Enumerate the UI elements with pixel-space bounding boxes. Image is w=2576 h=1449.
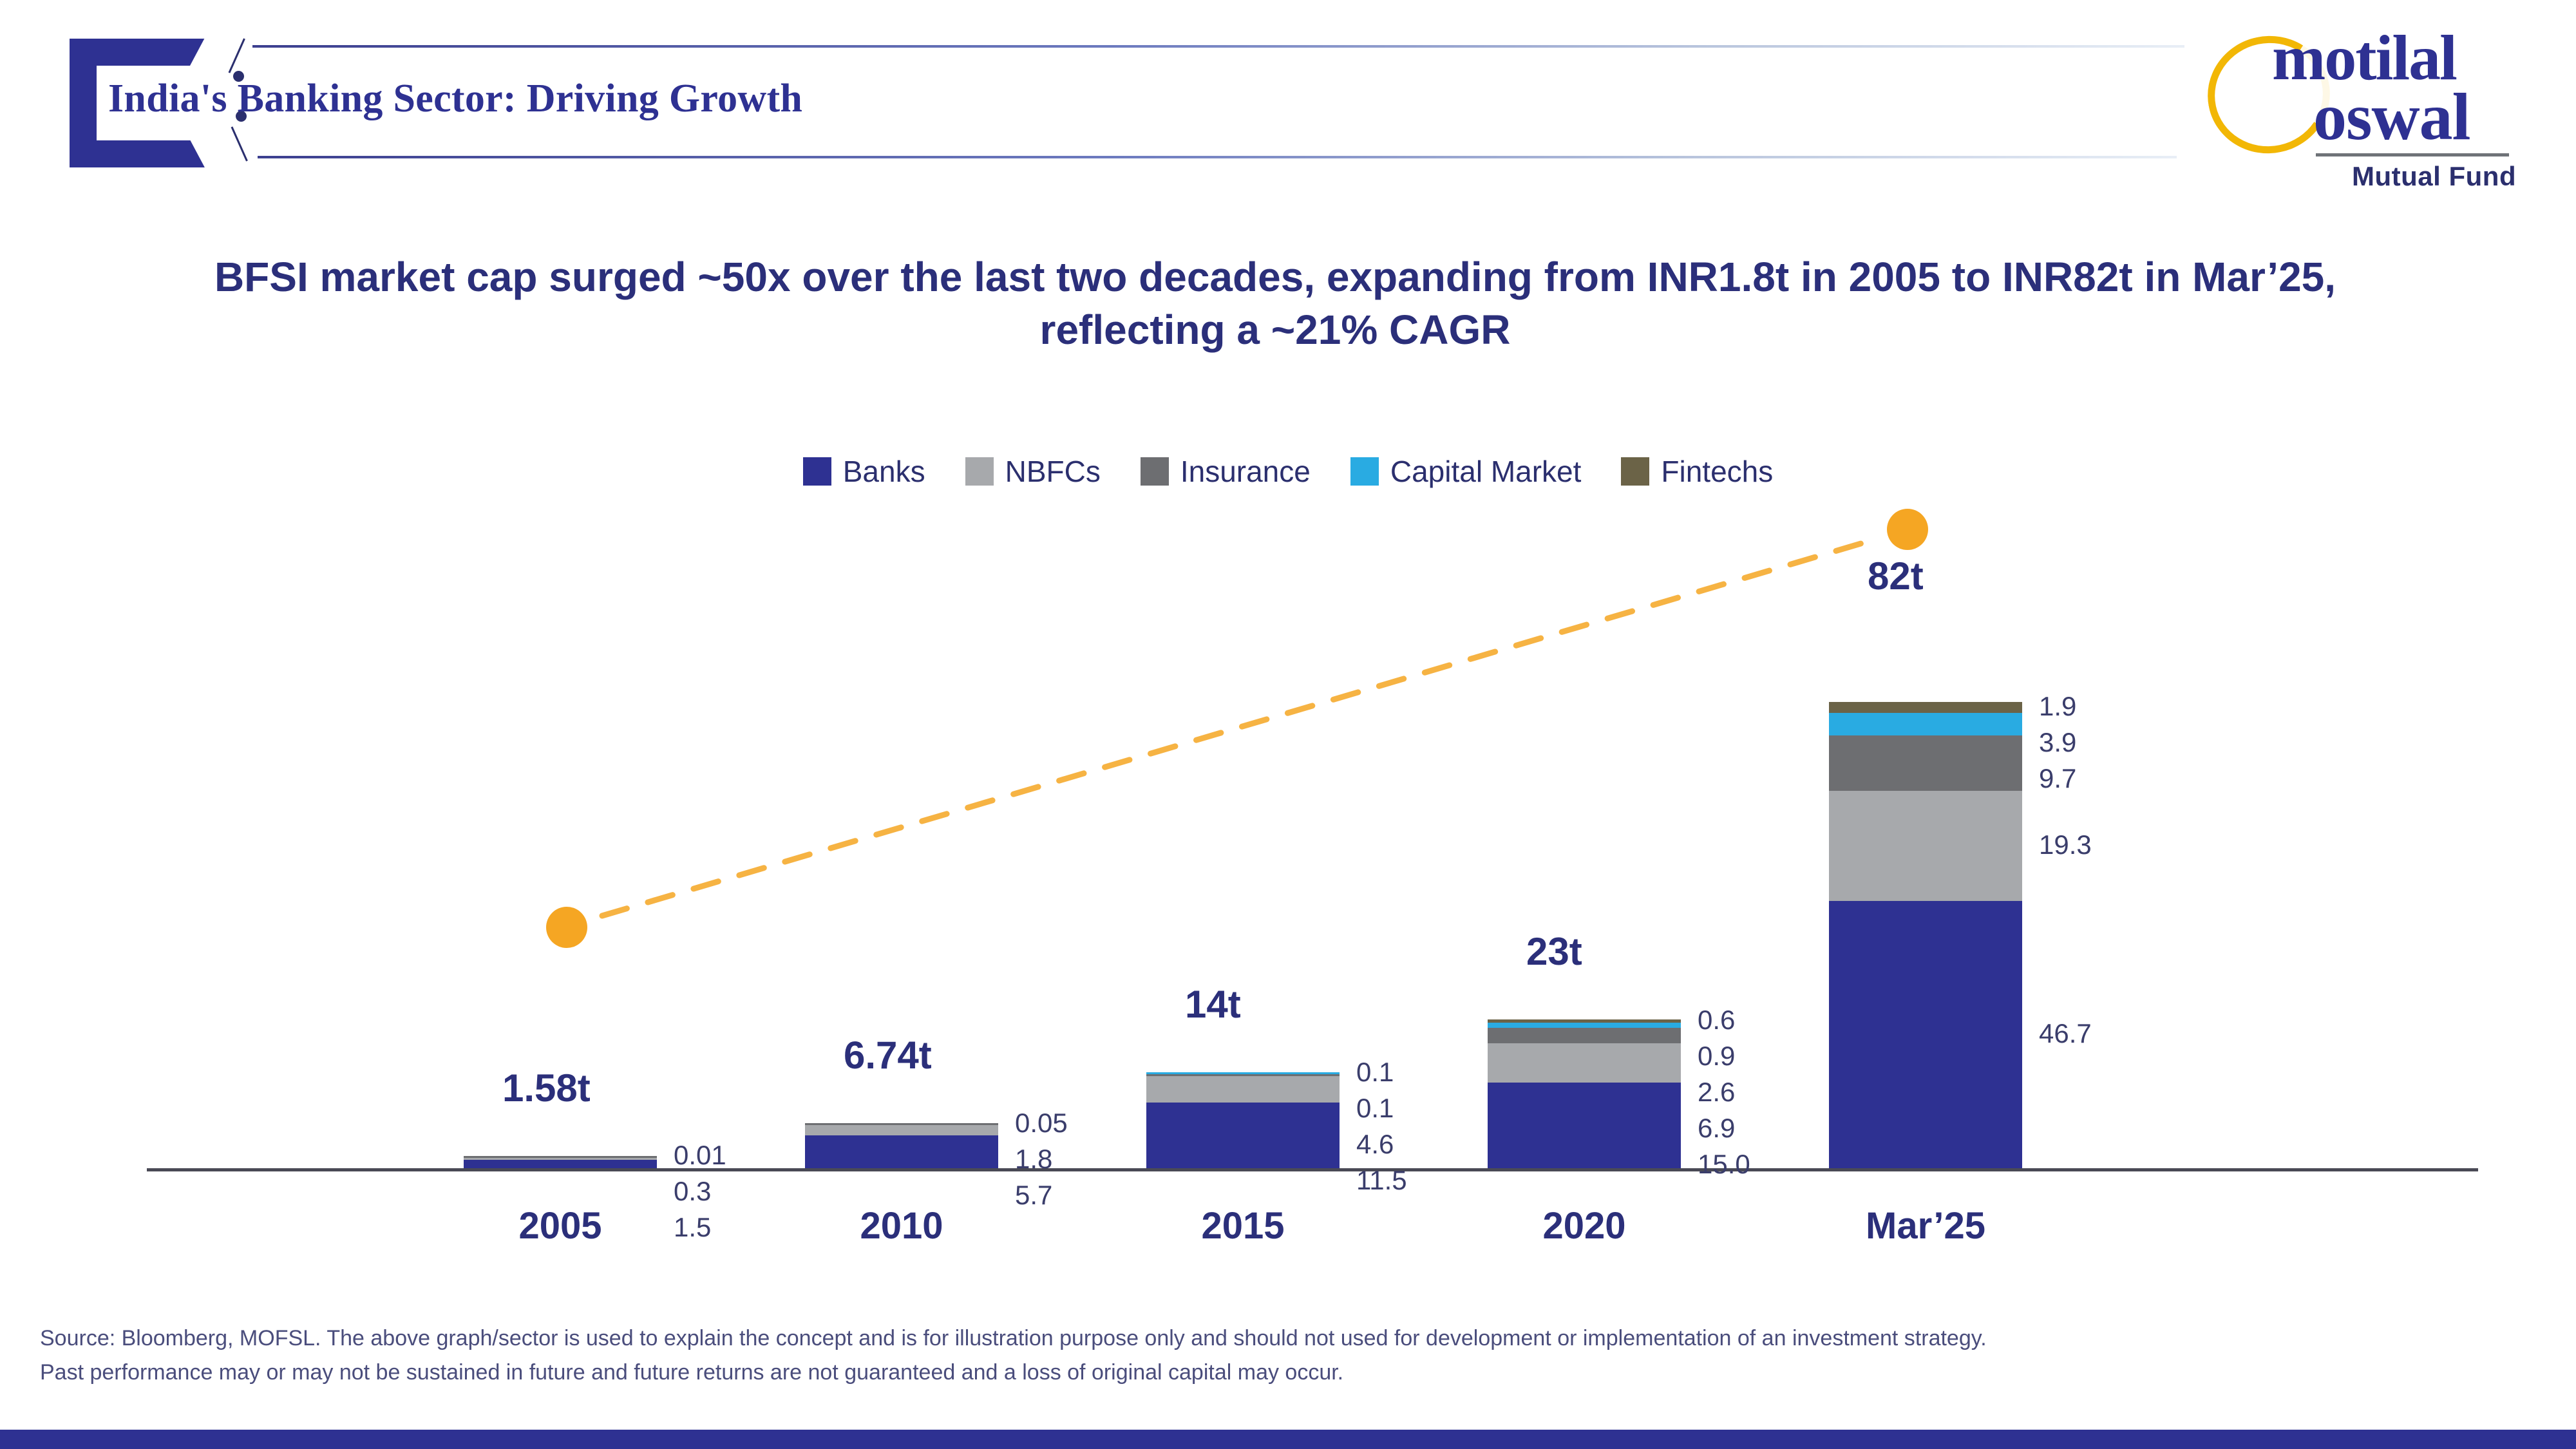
bar-value-label: 19.3: [2039, 829, 2092, 860]
bar-value-label: 3.9: [2039, 727, 2076, 758]
bar-segment-nbfcs[interactable]: [805, 1125, 998, 1135]
chart-plot-area: 0.010.31.51.58t20050.051.85.76.74t20100.…: [0, 0, 2576, 1449]
bar-value-label: 0.6: [1698, 1005, 1735, 1036]
bar-total-label: 1.58t: [502, 1066, 591, 1110]
bar-segment-insurance[interactable]: [1829, 735, 2022, 791]
trend-marker-end-icon: [1887, 509, 1928, 550]
bar-value-label: 0.05: [1015, 1108, 1068, 1139]
source-line-2: Past performance may or may not be susta…: [40, 1356, 2539, 1390]
bar-segment-nbfcs[interactable]: [1829, 791, 2022, 901]
bar-value-label: 1.9: [2039, 691, 2076, 722]
bar-segment-insurance[interactable]: [1488, 1028, 1681, 1043]
bar-value-label: 0.01: [674, 1140, 726, 1171]
trend-marker-start-icon: [546, 907, 587, 948]
bar-group-2010[interactable]: [805, 0, 998, 1168]
bar-segment-nbfcs[interactable]: [1488, 1043, 1681, 1083]
bar-segment-nbfcs[interactable]: [464, 1158, 657, 1160]
bar-value-label: 15.0: [1698, 1149, 1750, 1180]
bar-group-2015[interactable]: [1146, 0, 1340, 1168]
bar-segment-banks[interactable]: [1829, 901, 2022, 1168]
x-axis-label-2005: 2005: [425, 1204, 696, 1247]
source-line-1: Source: Bloomberg, MOFSL. The above grap…: [40, 1321, 2539, 1356]
bar-segment-capital-market[interactable]: [1488, 1023, 1681, 1028]
x-axis-label-2010: 2010: [766, 1204, 1037, 1247]
bar-segment-capital-market[interactable]: [1146, 1072, 1340, 1074]
bar-segment-insurance[interactable]: [464, 1156, 657, 1158]
bar-value-label: 0.9: [1698, 1041, 1735, 1072]
bar-value-label: 2.6: [1698, 1077, 1735, 1108]
bar-segment-insurance[interactable]: [1146, 1074, 1340, 1076]
bar-segment-fintechs[interactable]: [1829, 702, 2022, 713]
x-axis-line: [147, 1168, 2478, 1171]
bar-value-label: 1.8: [1015, 1144, 1052, 1175]
x-axis-label-2020: 2020: [1449, 1204, 1719, 1247]
bar-segment-banks[interactable]: [464, 1160, 657, 1168]
bar-segment-banks[interactable]: [805, 1135, 998, 1168]
bar-segment-capital-market[interactable]: [1829, 713, 2022, 735]
bar-segment-banks[interactable]: [1488, 1083, 1681, 1168]
x-axis-label-2015: 2015: [1108, 1204, 1378, 1247]
bar-value-label: 6.9: [1698, 1113, 1735, 1144]
slide-canvas: India's Banking Sector: Driving Growth m…: [0, 0, 2576, 1449]
bar-total-label: 14t: [1185, 982, 1241, 1027]
bar-segment-banks[interactable]: [1146, 1103, 1340, 1168]
bar-segment-insurance[interactable]: [805, 1123, 998, 1125]
x-axis-label-Mar25: Mar’25: [1790, 1204, 2061, 1247]
bar-total-label: 6.74t: [844, 1033, 932, 1077]
bar-group-2020[interactable]: [1488, 0, 1681, 1168]
bar-value-label: 9.7: [2039, 763, 2076, 794]
bar-segment-nbfcs[interactable]: [1146, 1076, 1340, 1103]
bar-value-label: 11.5: [1356, 1165, 1407, 1196]
bar-value-label: 0.1: [1356, 1093, 1394, 1124]
bar-segment-fintechs[interactable]: [1488, 1019, 1681, 1023]
bar-group-Mar25[interactable]: [1829, 0, 2022, 1168]
bar-total-label: 82t: [1868, 554, 1924, 598]
bar-group-2005[interactable]: [464, 0, 657, 1168]
bar-total-label: 23t: [1526, 929, 1582, 974]
source-disclaimer: Source: Bloomberg, MOFSL. The above grap…: [40, 1321, 2539, 1389]
bar-value-label: 46.7: [2039, 1018, 2092, 1049]
footer-accent-bar: [0, 1430, 2576, 1449]
bar-value-label: 4.6: [1356, 1129, 1394, 1160]
bar-value-label: 0.3: [674, 1176, 711, 1207]
bar-value-label: 0.1: [1356, 1057, 1394, 1088]
